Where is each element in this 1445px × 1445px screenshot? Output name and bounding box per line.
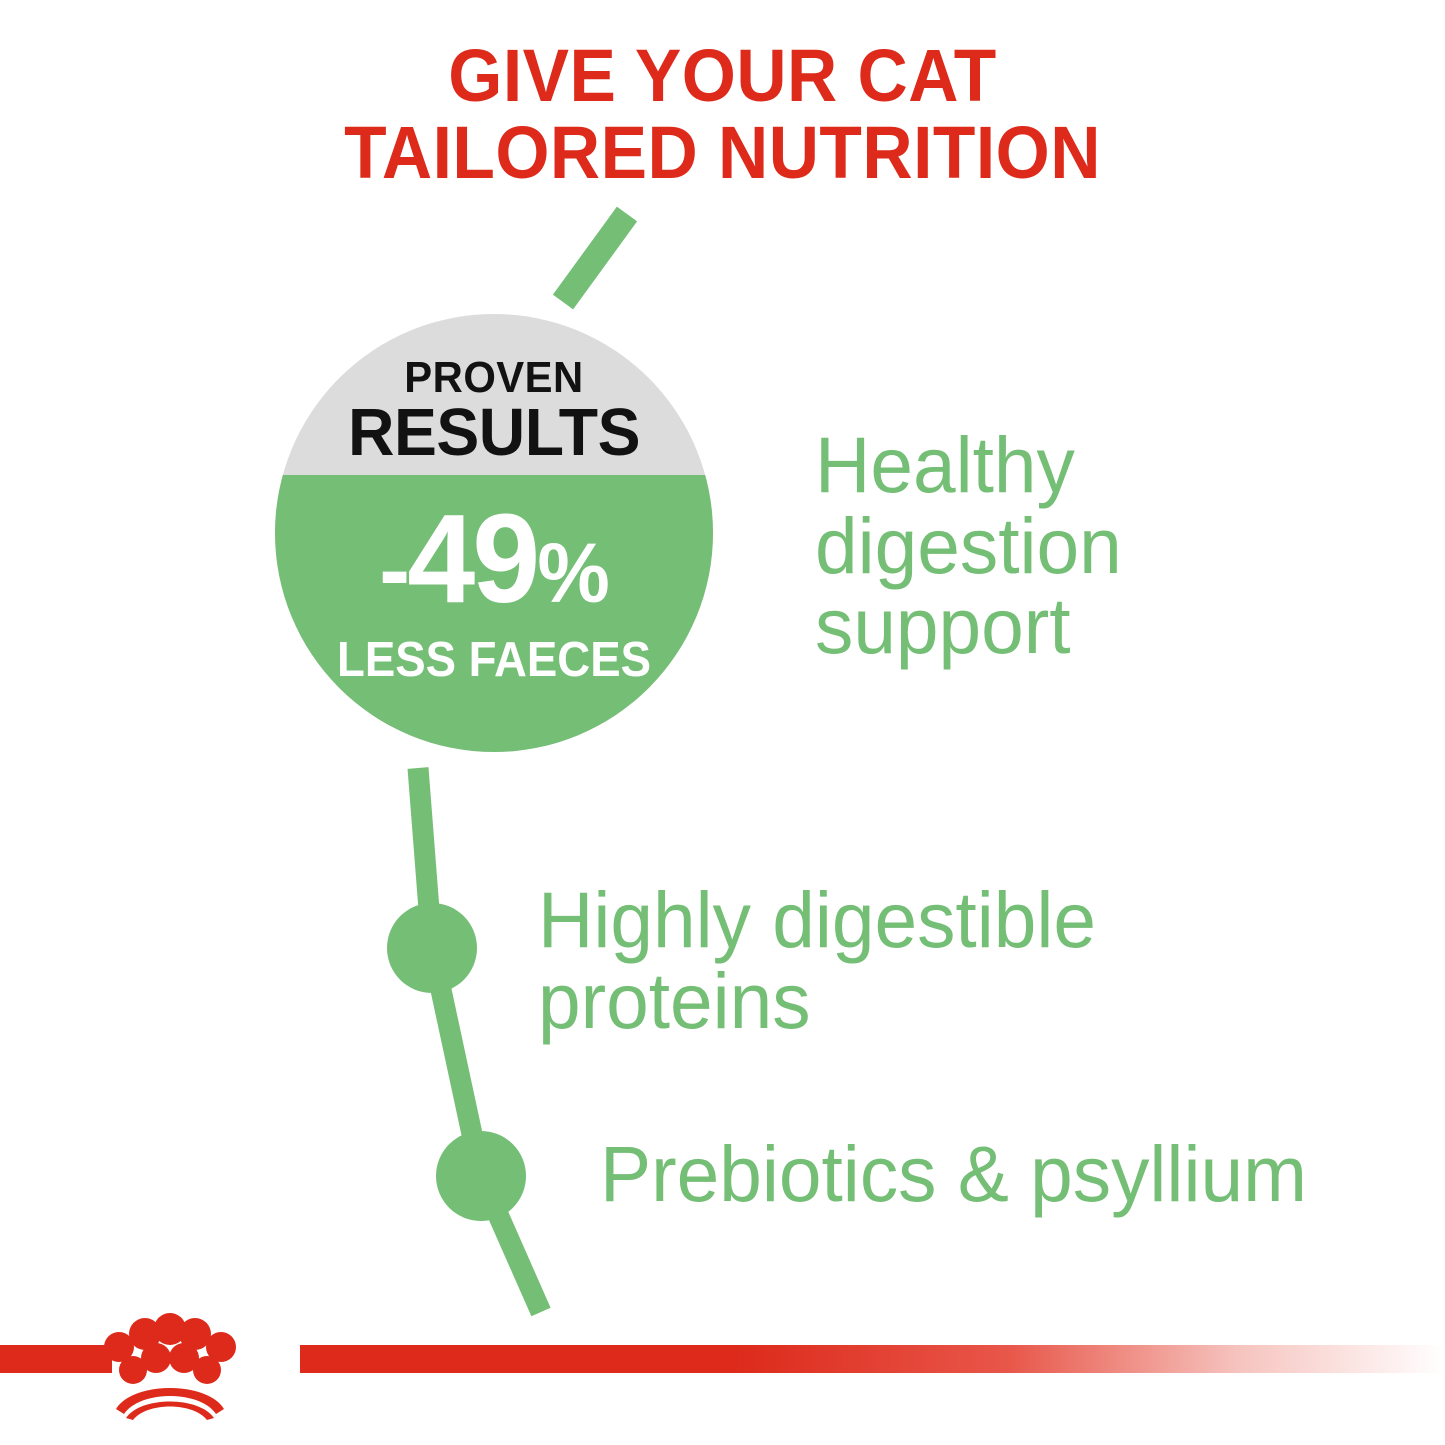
product-benefits-infographic: GIVE YOUR CAT TAILORED NUTRITION PROVEN … bbox=[0, 0, 1445, 1445]
badge-figure: -49% bbox=[282, 496, 707, 622]
brand-bar-left bbox=[0, 1345, 112, 1373]
connector-graphic bbox=[0, 0, 1445, 1445]
claim-3-line-1: Prebiotics & psyllium bbox=[600, 1134, 1307, 1215]
badge-minus-sign: - bbox=[379, 516, 407, 623]
badge-value: 49 bbox=[407, 488, 537, 629]
page-title: GIVE YOUR CAT TAILORED NUTRITION bbox=[43, 38, 1401, 192]
proven-results-badge: PROVEN RESULTS -49% LESS FAECES bbox=[275, 314, 713, 752]
claim-1-line-3: support bbox=[815, 586, 1122, 667]
claim-1-line-1: Healthy bbox=[815, 425, 1122, 506]
connector-dot-1 bbox=[387, 903, 477, 993]
connector-line-top bbox=[563, 214, 627, 302]
claim-2-line-2: proteins bbox=[538, 961, 1096, 1042]
page-title-line-2: TAILORED NUTRITION bbox=[43, 115, 1401, 192]
badge-eyebrow: PROVEN bbox=[286, 356, 702, 400]
claim-prebiotics-psyllium: Prebiotics & psyllium bbox=[600, 1134, 1307, 1215]
connector-dot-2 bbox=[436, 1131, 526, 1221]
connector-line-bottom bbox=[418, 768, 541, 1312]
badge-content: PROVEN RESULTS -49% LESS FAECES bbox=[275, 314, 713, 752]
claim-2-line-1: Highly digestible bbox=[538, 880, 1096, 961]
royal-canin-crown-icon bbox=[100, 1308, 240, 1420]
badge-caption: LESS FAECES bbox=[290, 636, 697, 685]
claim-highly-digestible-proteins: Highly digestible proteins bbox=[538, 880, 1096, 1041]
page-title-line-1: GIVE YOUR CAT bbox=[43, 38, 1401, 115]
claim-1-line-2: digestion bbox=[815, 506, 1122, 587]
badge-title: RESULTS bbox=[284, 399, 704, 466]
badge-percent-sign: % bbox=[537, 526, 608, 620]
claim-healthy-digestion-support: Healthy digestion support bbox=[815, 425, 1122, 667]
brand-bar-right bbox=[300, 1345, 1445, 1373]
